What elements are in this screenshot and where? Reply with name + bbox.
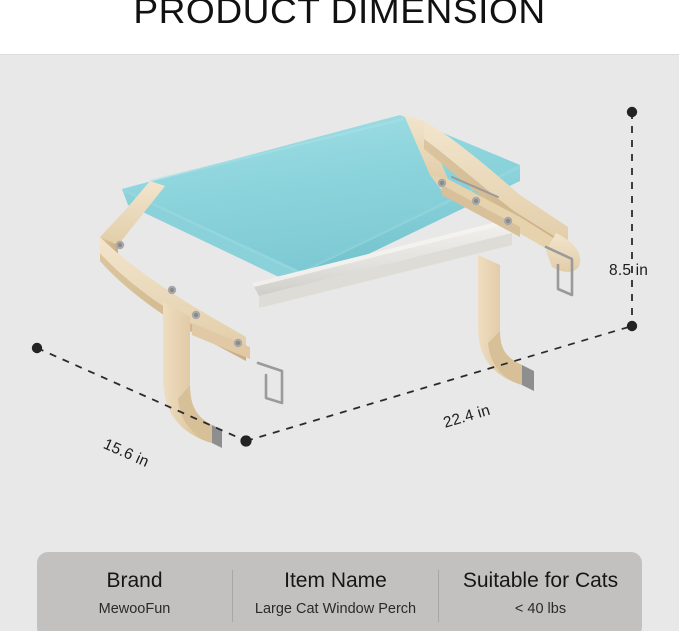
info-cell-item-name: Item Name Large Cat Window Perch (233, 567, 438, 623)
product-info-bar: Brand MewooFun Item Name Large Cat Windo… (37, 552, 642, 631)
product-dimension-infographic: PRODUCT DIMENSION (0, 0, 679, 631)
info-cell-brand: Brand MewooFun (37, 567, 232, 623)
info-value-item-name: Large Cat Window Perch (233, 597, 438, 621)
info-heading-brand: Brand (37, 567, 232, 594)
right-rubber-tip (522, 365, 534, 391)
height-dimension-label: 8.5 in (609, 262, 648, 280)
left-rubber-tip (212, 425, 222, 448)
header-band: PRODUCT DIMENSION (0, 0, 679, 55)
page-title: PRODUCT DIMENSION (0, 0, 679, 32)
illustration-stage: 8.5 in 22.4 in 15.6 in Brand MewooFun It… (0, 55, 679, 631)
product-illustration (0, 55, 679, 631)
info-cell-suitable-for-cats: Suitable for Cats < 40 lbs (439, 567, 642, 623)
info-heading-suitable-for-cats: Suitable for Cats (439, 567, 642, 594)
info-value-brand: MewooFun (37, 597, 232, 621)
info-value-suitable-for-cats: < 40 lbs (439, 597, 642, 621)
info-heading-item-name: Item Name (233, 567, 438, 594)
left-wire-clip (258, 363, 282, 403)
